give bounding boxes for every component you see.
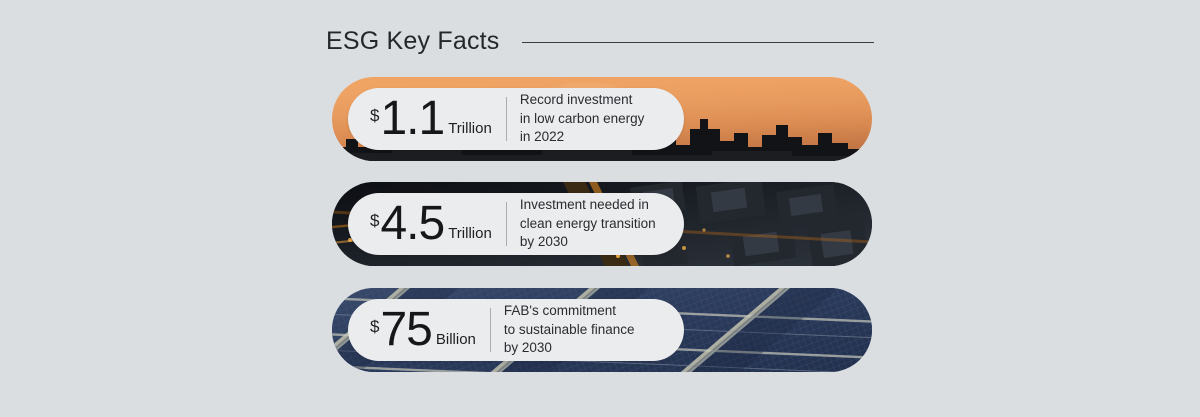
currency-symbol: $ [370,317,379,337]
amount-value: 4.5 [380,200,444,248]
amount-unit: Trillion [448,225,492,242]
vertical-divider [506,97,507,141]
figure-group: $ 1.1 Trillion [348,95,492,143]
fact-card-record-investment[interactable]: $ 1.1 Trillion Record investment in low … [332,77,872,161]
description-line: in 2022 [520,128,645,147]
description-line: to sustainable finance [504,321,635,340]
fact-pill: $ 75 Billion FAB's commitment to sustain… [348,299,684,361]
header: ESG Key Facts [326,22,874,60]
currency-symbol: $ [370,211,379,231]
fact-card-clean-energy-transition[interactable]: $ 4.5 Trillion Investment needed in clea… [332,182,872,266]
amount-unit: Trillion [448,120,492,137]
description-line: in low carbon energy [520,110,645,129]
fact-pill: $ 1.1 Trillion Record investment in low … [348,88,684,150]
fact-description: Investment needed in clean energy transi… [520,196,666,252]
currency-symbol: $ [370,106,379,126]
header-rule [522,42,875,43]
description-line: Investment needed in [520,196,656,215]
page-title: ESG Key Facts [326,27,500,56]
amount-unit: Billion [436,331,476,348]
amount-value: 75 [380,306,431,354]
description-line: FAB's commitment [504,302,635,321]
fact-description: FAB's commitment to sustainable finance … [504,302,645,358]
fact-card-fab-commitment[interactable]: $ 75 Billion FAB's commitment to sustain… [332,288,872,372]
amount-value: 1.1 [380,95,444,143]
description-line: by 2030 [520,233,656,252]
infographic-stage: ESG Key Facts $ 1.1 Trillion R [0,0,1200,417]
description-line: Record investment [520,91,645,110]
figure-group: $ 4.5 Trillion [348,200,492,248]
vertical-divider [490,308,491,352]
figure-group: $ 75 Billion [348,306,476,354]
fact-pill: $ 4.5 Trillion Investment needed in clea… [348,193,684,255]
fact-description: Record investment in low carbon energy i… [520,91,655,147]
description-line: by 2030 [504,339,635,358]
vertical-divider [506,202,507,246]
description-line: clean energy transition [520,215,656,234]
